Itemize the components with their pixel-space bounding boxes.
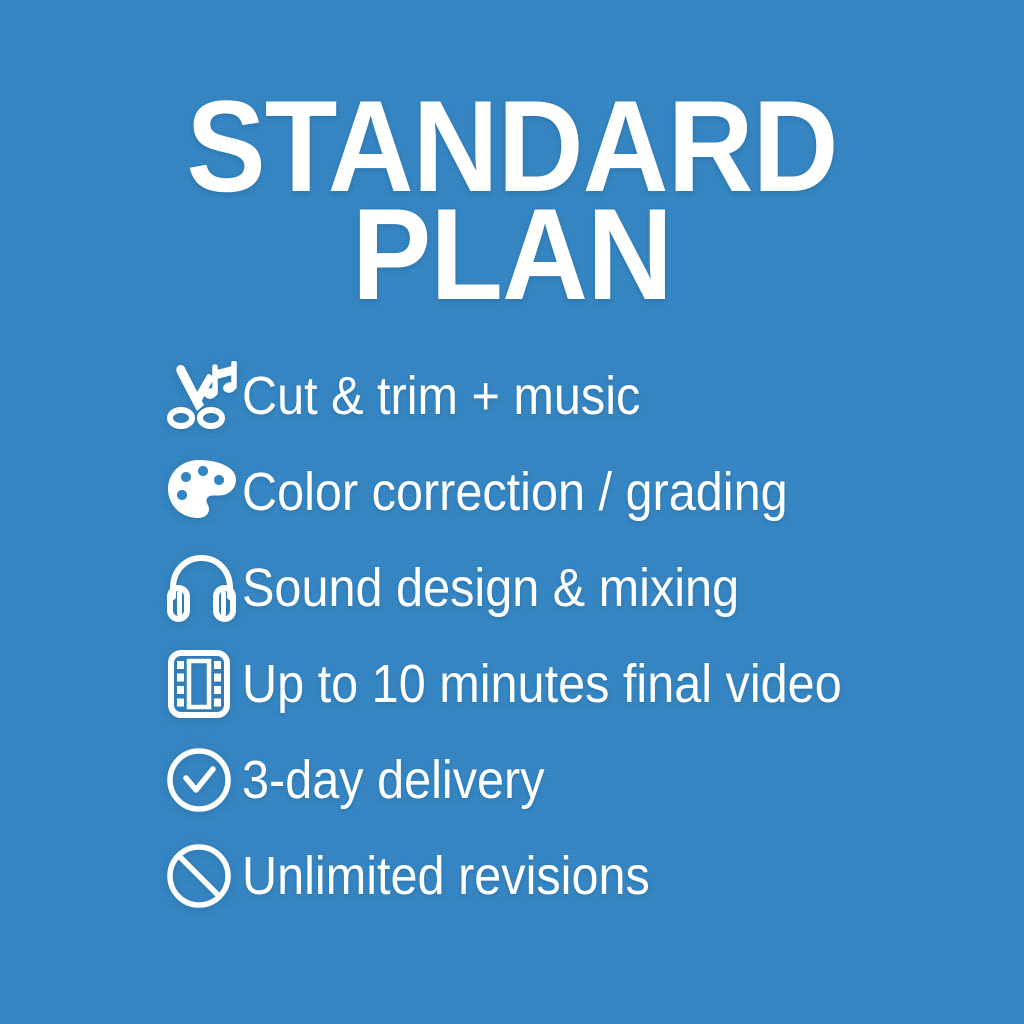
feature-item-color-correction: Color correction / grading	[160, 444, 990, 540]
page-title: STANDARD PLAN	[0, 92, 1024, 308]
no-limit-circle-slash-icon	[160, 838, 242, 914]
feature-label: Cut & trim + music	[242, 366, 640, 426]
feature-label: Color correction / grading	[242, 462, 788, 522]
feature-label: Unlimited revisions	[242, 846, 650, 906]
feature-item-delivery-time: 3-day delivery	[160, 732, 990, 828]
scissors-music-icon	[160, 358, 242, 434]
check-circle-icon	[160, 742, 242, 818]
film-strip-icon	[160, 646, 242, 722]
feature-item-cut-trim-music: Cut & trim + music	[160, 348, 990, 444]
title-line-plan: PLAN	[44, 200, 981, 308]
feature-item-revisions: Unlimited revisions	[160, 828, 990, 924]
headphones-icon	[160, 550, 242, 626]
feature-list: Cut & trim + music Color correction / gr…	[160, 348, 990, 924]
feature-item-sound-design: Sound design & mixing	[160, 540, 990, 636]
feature-label: Up to 10 minutes final video	[242, 654, 842, 714]
feature-item-video-length: Up to 10 minutes final video	[160, 636, 990, 732]
paint-palette-icon	[160, 454, 242, 530]
feature-label: 3-day delivery	[242, 750, 545, 810]
standard-plan-card: STANDARD PLAN	[0, 0, 1024, 1024]
feature-label: Sound design & mixing	[242, 558, 739, 618]
